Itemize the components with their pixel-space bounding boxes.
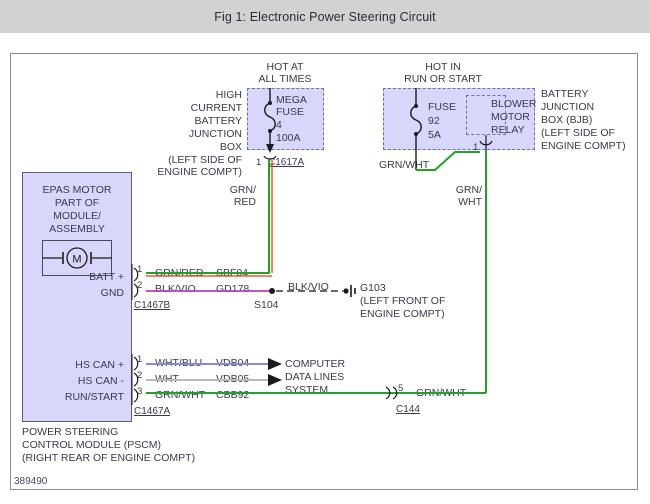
wire-wht-vdb05 — [146, 374, 282, 386]
motor-symbol: M — [42, 248, 112, 268]
wire-grn-wht-fuse-out — [416, 152, 480, 170]
wiring-overlay: M — [0, 0, 650, 504]
connector-c1467b-symbol — [132, 264, 138, 300]
bjb-fuse-92-symbol — [411, 88, 422, 170]
mega-fuse-symbol — [265, 88, 276, 153]
wire-blk-vio-ground — [146, 285, 355, 297]
blower-relay-contact-symbol — [480, 135, 492, 150]
screenshot-root: Fig 1: Electronic Power Steering Circuit… — [0, 0, 650, 504]
wire-grn-red — [146, 160, 272, 276]
wire-wht-blu-vdb04 — [146, 358, 282, 370]
connector-c1617a-symbol — [264, 156, 276, 159]
motor-symbol-letter: M — [72, 254, 81, 266]
wire-grn-wht-main — [146, 150, 486, 393]
connector-c1467a-symbol — [132, 354, 138, 405]
